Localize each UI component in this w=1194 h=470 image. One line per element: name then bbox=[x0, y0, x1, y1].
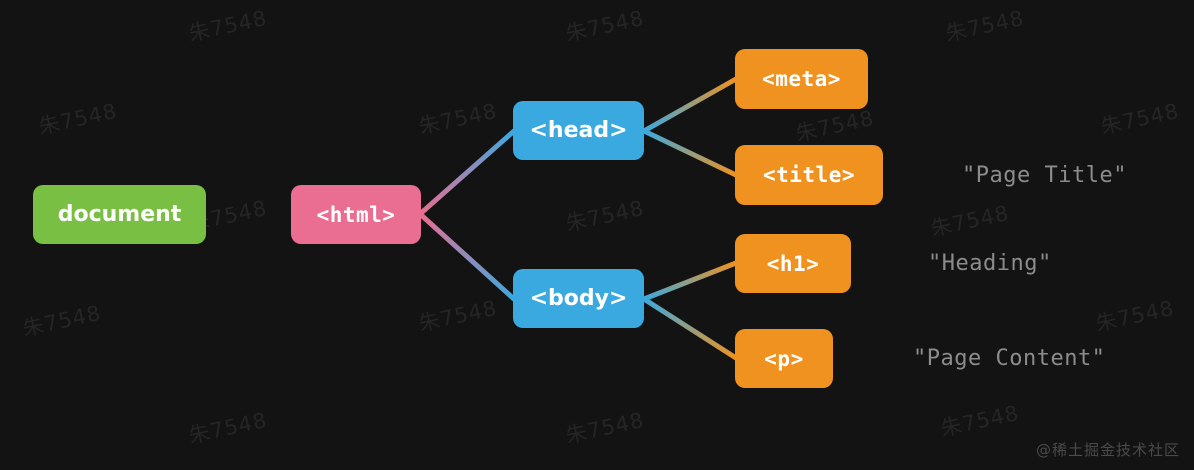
node-meta[interactable]: <meta> bbox=[735, 49, 868, 109]
watermark-tile: 朱7548 bbox=[186, 2, 270, 48]
watermark-tile: 朱7548 bbox=[563, 2, 647, 48]
edge-head-meta bbox=[644, 79, 736, 131]
edge-html-body bbox=[420, 214, 514, 299]
edge-head-title bbox=[644, 131, 736, 175]
watermark-tile: 朱7548 bbox=[36, 95, 120, 141]
credit-watermark: @稀土掘金技术社区 bbox=[1036, 439, 1180, 460]
node-p[interactable]: <p> bbox=[735, 329, 833, 388]
watermark-tile: 朱7548 bbox=[563, 404, 647, 450]
leaf-title-text: "Page Title" bbox=[962, 160, 1127, 190]
edge-html-head bbox=[420, 131, 514, 214]
node-title[interactable]: <title> bbox=[735, 145, 883, 205]
watermark-tile: 朱7548 bbox=[943, 2, 1027, 48]
node-body[interactable]: <body> bbox=[513, 269, 644, 328]
node-h1[interactable]: <h1> bbox=[735, 234, 851, 293]
leaf-h1-text: "Heading" bbox=[928, 248, 1052, 278]
watermark-tile: 朱7548 bbox=[1093, 292, 1177, 338]
watermark-tile: 朱7548 bbox=[1098, 95, 1182, 141]
watermark-tile: 朱7548 bbox=[416, 95, 500, 141]
leaf-p-text: "Page Content" bbox=[913, 343, 1105, 373]
node-head[interactable]: <head> bbox=[513, 101, 644, 160]
diagram-canvas: 朱7548 朱7548 朱7548 朱7548 朱7548 朱7548 朱754… bbox=[0, 0, 1194, 470]
watermark-tile: 朱7548 bbox=[938, 397, 1022, 443]
edge-body-h1 bbox=[644, 263, 736, 299]
node-html[interactable]: <html> bbox=[291, 185, 421, 244]
watermark-tile: 朱7548 bbox=[416, 292, 500, 338]
watermark-tile: 朱7548 bbox=[563, 192, 647, 238]
edge-body-p bbox=[644, 299, 736, 358]
watermark-tile: 朱7548 bbox=[928, 197, 1012, 243]
watermark-tile: 朱7548 bbox=[20, 297, 104, 343]
watermark-tile: 朱7548 bbox=[186, 404, 270, 450]
node-document[interactable]: document bbox=[33, 185, 206, 244]
